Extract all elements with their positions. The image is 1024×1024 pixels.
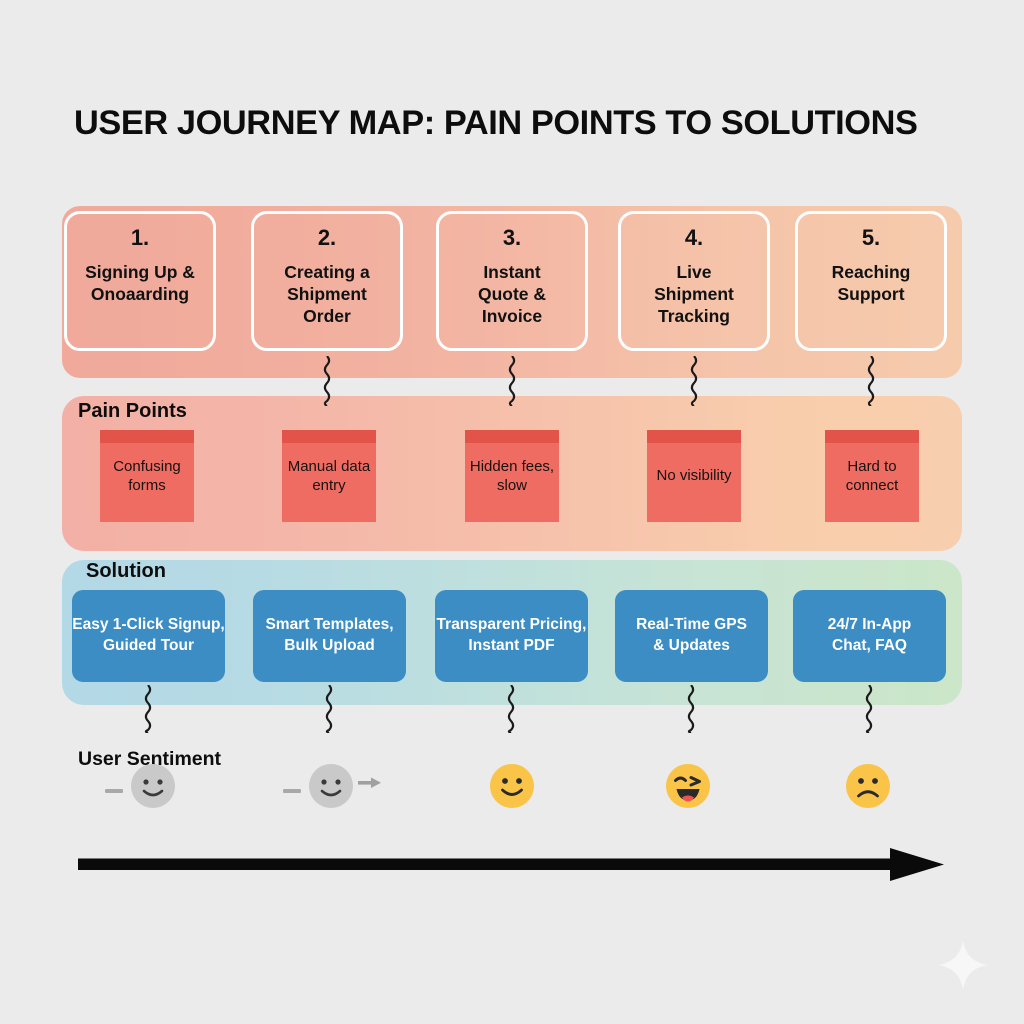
- connector-stage-to-pain-2: [319, 356, 335, 406]
- journey-map-canvas: USER JOURNEY MAP: PAIN POINTS TO SOLUTIO…: [0, 0, 1024, 1024]
- connector-stage-to-pain-4: [686, 356, 702, 406]
- solution-label: Easy 1-Click Signup,Guided Tour: [72, 615, 224, 657]
- journey-stage-card-3[interactable]: 3.InstantQuote &Invoice: [436, 211, 588, 351]
- connector-solution-to-sentiment-2: [321, 685, 337, 733]
- journey-stage-label: InstantQuote &Invoice: [472, 261, 552, 327]
- solution-label: Smart Templates,Bulk Upload: [265, 615, 393, 657]
- journey-stage-number: 1.: [131, 226, 149, 249]
- journey-stage-card-5[interactable]: 5.ReachingSupport: [795, 211, 947, 351]
- neutral-gray-smiley-icon: [129, 762, 177, 815]
- right-arrow-icon: [78, 846, 948, 887]
- journey-stage-card-2[interactable]: 2.Creating aShipmentOrder: [251, 211, 403, 351]
- pain-point-card-4[interactable]: No visibility: [647, 430, 741, 522]
- pain-points-heading: Pain Points: [78, 400, 187, 423]
- journey-stage-label: ReachingSupport: [826, 261, 917, 305]
- pain-point-label: Hidden fees,slow: [470, 457, 554, 496]
- journey-stage-number: 2.: [318, 226, 336, 249]
- connector-stage-to-pain-3: [504, 356, 520, 406]
- pain-point-card-2[interactable]: Manual dataentry: [282, 430, 376, 522]
- journey-stage-number: 4.: [685, 226, 703, 249]
- frowning-face-icon: [844, 762, 892, 815]
- connector-solution-to-sentiment-4: [683, 685, 699, 733]
- journey-stage-label: Signing Up &Onoaarding: [79, 261, 201, 305]
- connector-solution-to-sentiment-1: [140, 685, 156, 733]
- winking-laughing-face-icon: [664, 762, 712, 815]
- solution-label: Real-Time GPS& Updates: [636, 615, 747, 657]
- journey-stage-label: LiveShipmentTracking: [648, 261, 740, 327]
- solution-card-5[interactable]: 24/7 In-AppChat, FAQ: [793, 590, 946, 682]
- solution-card-4[interactable]: Real-Time GPS& Updates: [615, 590, 768, 682]
- solution-label: 24/7 In-AppChat, FAQ: [828, 615, 912, 657]
- sentiment-arrow-icon: [358, 775, 384, 796]
- journey-stage-card-4[interactable]: 4.LiveShipmentTracking: [618, 211, 770, 351]
- solution-card-1[interactable]: Easy 1-Click Signup,Guided Tour: [72, 590, 225, 682]
- pain-point-label: No visibility: [656, 466, 731, 486]
- journey-stage-card-1[interactable]: 1.Signing Up &Onoaarding: [64, 211, 216, 351]
- journey-stage-label: Creating aShipmentOrder: [278, 261, 376, 327]
- pain-point-card-5[interactable]: Hard toconnect: [825, 430, 919, 522]
- pain-point-label: Manual dataentry: [288, 457, 371, 496]
- pain-point-label: Confusingforms: [113, 457, 181, 496]
- solution-card-2[interactable]: Smart Templates,Bulk Upload: [253, 590, 406, 682]
- sentiment-dash-icon: [283, 782, 303, 800]
- smiling-face-icon: [488, 762, 536, 815]
- connector-solution-to-sentiment-3: [503, 685, 519, 733]
- solution-card-3[interactable]: Transparent Pricing,Instant PDF: [435, 590, 588, 682]
- sentiment-dash-icon: [105, 782, 125, 800]
- journey-stage-number: 5.: [862, 226, 880, 249]
- pain-point-card-3[interactable]: Hidden fees,slow: [465, 430, 559, 522]
- pain-point-label: Hard toconnect: [846, 457, 899, 496]
- connector-solution-to-sentiment-5: [861, 685, 877, 733]
- neutral-gray-smiley-icon: [307, 762, 355, 815]
- four-point-sparkle-icon: [936, 938, 990, 997]
- solutions-heading: Solution: [86, 560, 166, 583]
- pain-point-card-1[interactable]: Confusingforms: [100, 430, 194, 522]
- page-title: USER JOURNEY MAP: PAIN POINTS TO SOLUTIO…: [74, 104, 950, 143]
- solution-label: Transparent Pricing,Instant PDF: [437, 615, 587, 657]
- connector-stage-to-pain-5: [863, 356, 879, 406]
- journey-stage-number: 3.: [503, 226, 521, 249]
